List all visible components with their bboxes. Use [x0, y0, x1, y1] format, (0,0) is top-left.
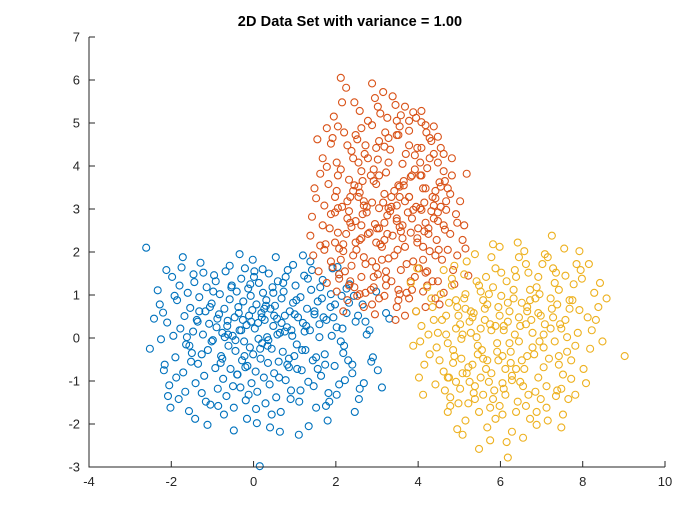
x-tick-label: 10 [658, 474, 672, 489]
y-tick-label: -1 [68, 374, 80, 389]
y-tick-label: 2 [73, 245, 80, 260]
series-cluster-2 [307, 74, 472, 323]
x-tick-label: 0 [250, 474, 257, 489]
y-tick-label: 4 [73, 159, 80, 174]
x-tick-label: -2 [166, 474, 178, 489]
series-cluster-3 [407, 232, 628, 461]
x-tick-label: 8 [579, 474, 586, 489]
figure-window: 2D Data Set with variance = 1.00 -3-2-10… [0, 0, 700, 525]
y-tick-label: -2 [68, 417, 80, 432]
series-cluster-1 [143, 244, 393, 469]
y-tick-label: 1 [73, 288, 80, 303]
scatter-plot[interactable]: -3-2-101234567-4-20246810 [0, 0, 700, 525]
x-tick-label: 6 [497, 474, 504, 489]
y-tick-label: 7 [73, 30, 80, 45]
y-tick-label: -3 [68, 460, 80, 475]
tick-label-layer: -3-2-101234567-4-20246810 [68, 30, 672, 490]
y-tick-label: 0 [73, 331, 80, 346]
scatter-points-layer [143, 74, 628, 469]
x-tick-label: -4 [83, 474, 95, 489]
x-tick-label: 2 [332, 474, 339, 489]
y-tick-label: 6 [73, 73, 80, 88]
y-tick-label: 3 [73, 202, 80, 217]
y-tick-label: 5 [73, 116, 80, 131]
x-tick-label: 4 [415, 474, 422, 489]
